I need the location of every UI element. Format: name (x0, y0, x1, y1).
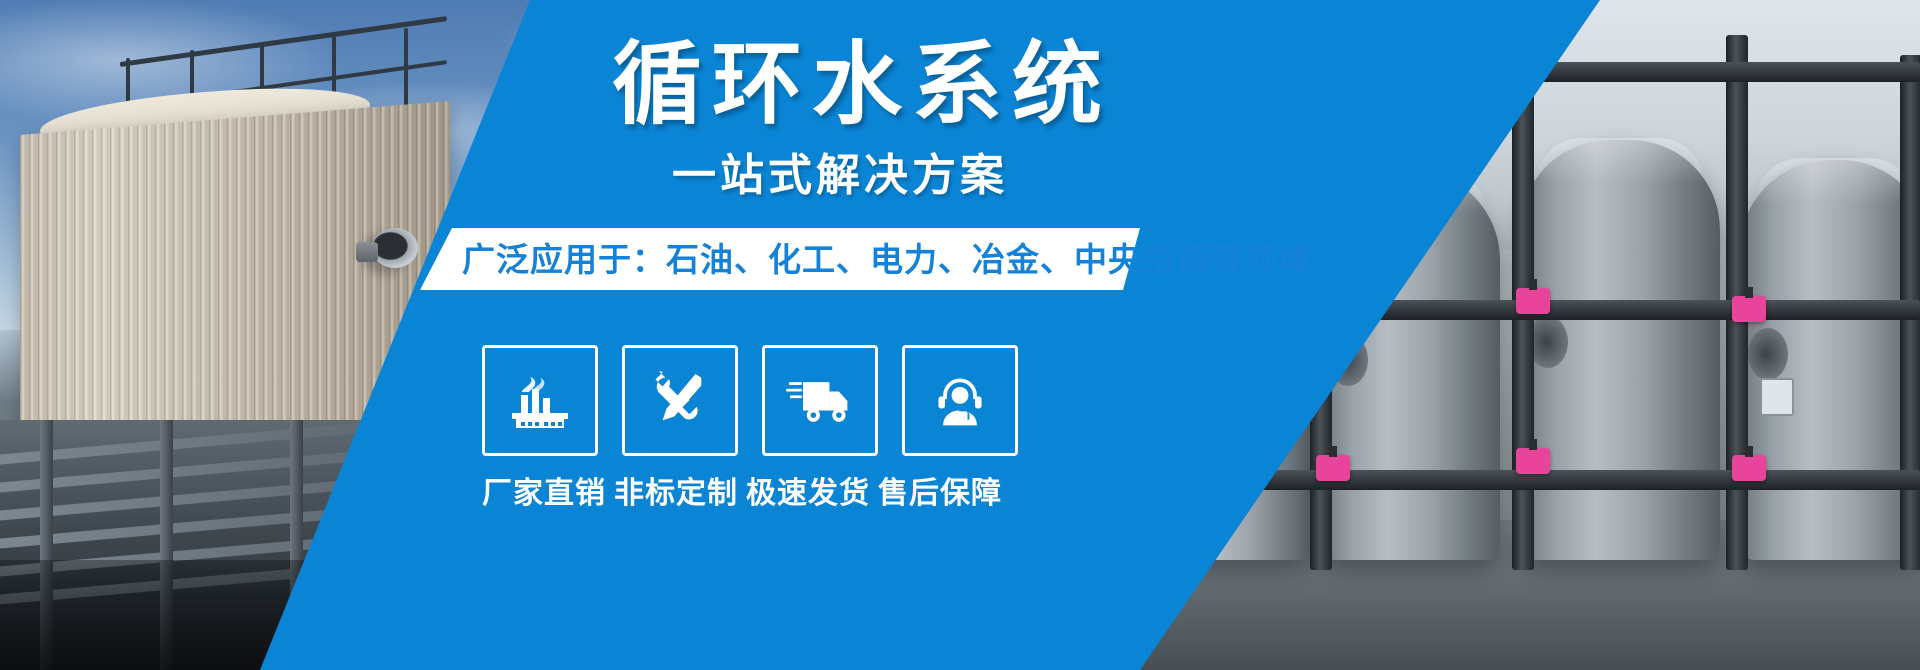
valve-handle (1516, 448, 1550, 474)
tower-vent (372, 228, 418, 268)
feature-label-support: 售后保障 (878, 468, 1002, 512)
feature-icon-box-support[interactable] (902, 345, 1018, 456)
banner-subheadline: 一站式解决方案 (672, 152, 1092, 200)
feature-icon-box-tools[interactable] (622, 345, 738, 456)
feature-label-truck: 极速发货 (746, 468, 870, 512)
valve-handle (1732, 455, 1766, 481)
pressure-vessel (1740, 160, 1920, 560)
feature-label-row: 厂家直销 非标定制 极速发货 售后保障 (482, 468, 1002, 512)
pressure-vessel (1520, 140, 1720, 560)
truck-icon (786, 375, 854, 427)
valve-handle (1316, 455, 1350, 481)
feature-label-tools: 非标定制 (614, 468, 738, 512)
promo-banner: 循环水系统 一站式解决方案 广泛应用于：石油、化工、电力、冶金、中央空调等领域 (0, 0, 1920, 670)
support-agent-icon (930, 371, 990, 431)
application-fields-text: 广泛应用于：石油、化工、电力、冶金、中央空调等领域 (462, 240, 1312, 280)
banner-headline: 循环水系统 (612, 38, 1132, 133)
feature-icon-row (482, 345, 1018, 456)
feature-label-factory: 厂家直销 (482, 468, 606, 512)
feature-icon-box-factory[interactable] (482, 345, 598, 456)
feature-icon-box-truck[interactable] (762, 345, 878, 456)
valve-handle (1732, 296, 1766, 322)
control-box (1760, 378, 1794, 416)
valve-handle (1516, 288, 1550, 314)
factory-icon (508, 371, 572, 431)
tools-icon (649, 370, 711, 432)
